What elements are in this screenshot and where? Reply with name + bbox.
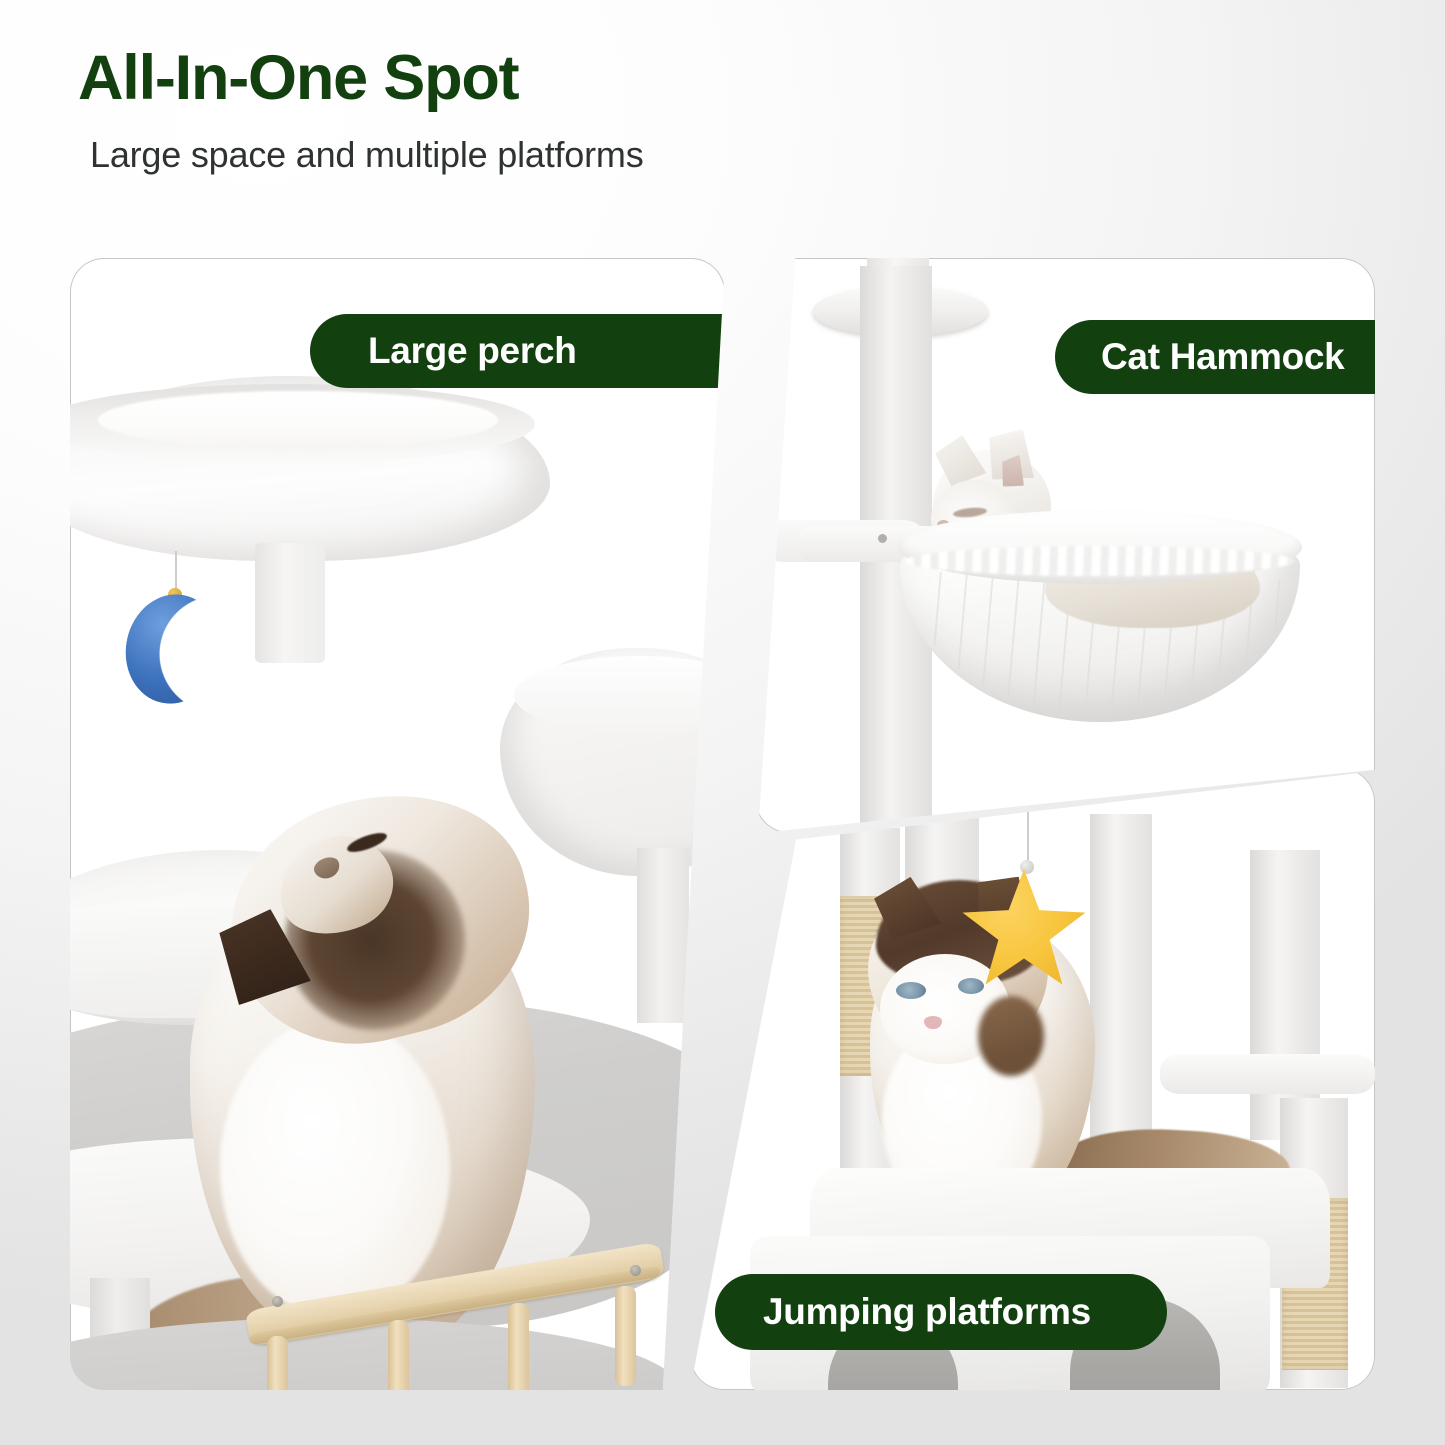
panel-large-perch-photo: Large perch xyxy=(70,258,725,1390)
ragdoll-cat-eye-right xyxy=(958,978,984,994)
blue-crescent-moon-toy xyxy=(116,585,231,712)
plush-post xyxy=(1090,814,1152,1174)
guardrail-dowel-post xyxy=(388,1320,409,1390)
guardrail-screw xyxy=(272,1296,283,1307)
badge-jumping-platforms-label: Jumping platforms xyxy=(763,1291,1091,1333)
side-shelf xyxy=(1160,1054,1375,1094)
star-toy-string xyxy=(1027,802,1029,864)
guardrail-dowel-post xyxy=(508,1303,529,1390)
base-platform xyxy=(70,1318,680,1390)
hammock-rim-fur xyxy=(905,546,1295,576)
panel-jumping-platforms: Jumping platforms xyxy=(690,768,1375,1390)
panel-jumping-platforms-photo: Jumping platforms xyxy=(690,768,1375,1390)
image-canvas: All-In-One Spot Large space and multiple… xyxy=(0,0,1445,1445)
panel-large-perch: Large perch xyxy=(70,258,725,1390)
badge-large-perch: Large perch xyxy=(310,314,725,388)
star-toy-bell xyxy=(1020,860,1034,874)
page-title: All-In-One Spot xyxy=(78,46,1078,112)
badge-large-perch-label: Large perch xyxy=(368,330,577,372)
panel-cat-hammock: Cat Hammock xyxy=(755,258,1375,833)
round-plush-bed-post xyxy=(637,848,689,1023)
panel-cat-hammock-photo: Cat Hammock xyxy=(755,258,1375,833)
ragdoll-cat-eye-left xyxy=(896,982,926,999)
moon-toy-string xyxy=(175,551,177,593)
guardrail-dowel-post xyxy=(267,1336,288,1390)
guardrail-dowel-post xyxy=(615,1286,636,1386)
badge-jumping-platforms: Jumping platforms xyxy=(715,1274,1167,1350)
perch-hollow xyxy=(98,391,498,449)
badge-cat-hammock: Cat Hammock xyxy=(1055,320,1375,394)
ragdoll-cat-cheek-marking xyxy=(978,996,1044,1076)
header: All-In-One Spot Large space and multiple… xyxy=(78,46,1078,176)
ragdoll-cat-chest xyxy=(220,1018,450,1318)
page-subtitle: Large space and multiple platforms xyxy=(90,134,1078,176)
badge-cat-hammock-label: Cat Hammock xyxy=(1101,336,1344,378)
guardrail-screw xyxy=(630,1265,641,1276)
hammock-bracket-screw xyxy=(878,534,887,543)
plush-post xyxy=(1250,850,1320,1140)
perch-support-post xyxy=(255,543,325,663)
